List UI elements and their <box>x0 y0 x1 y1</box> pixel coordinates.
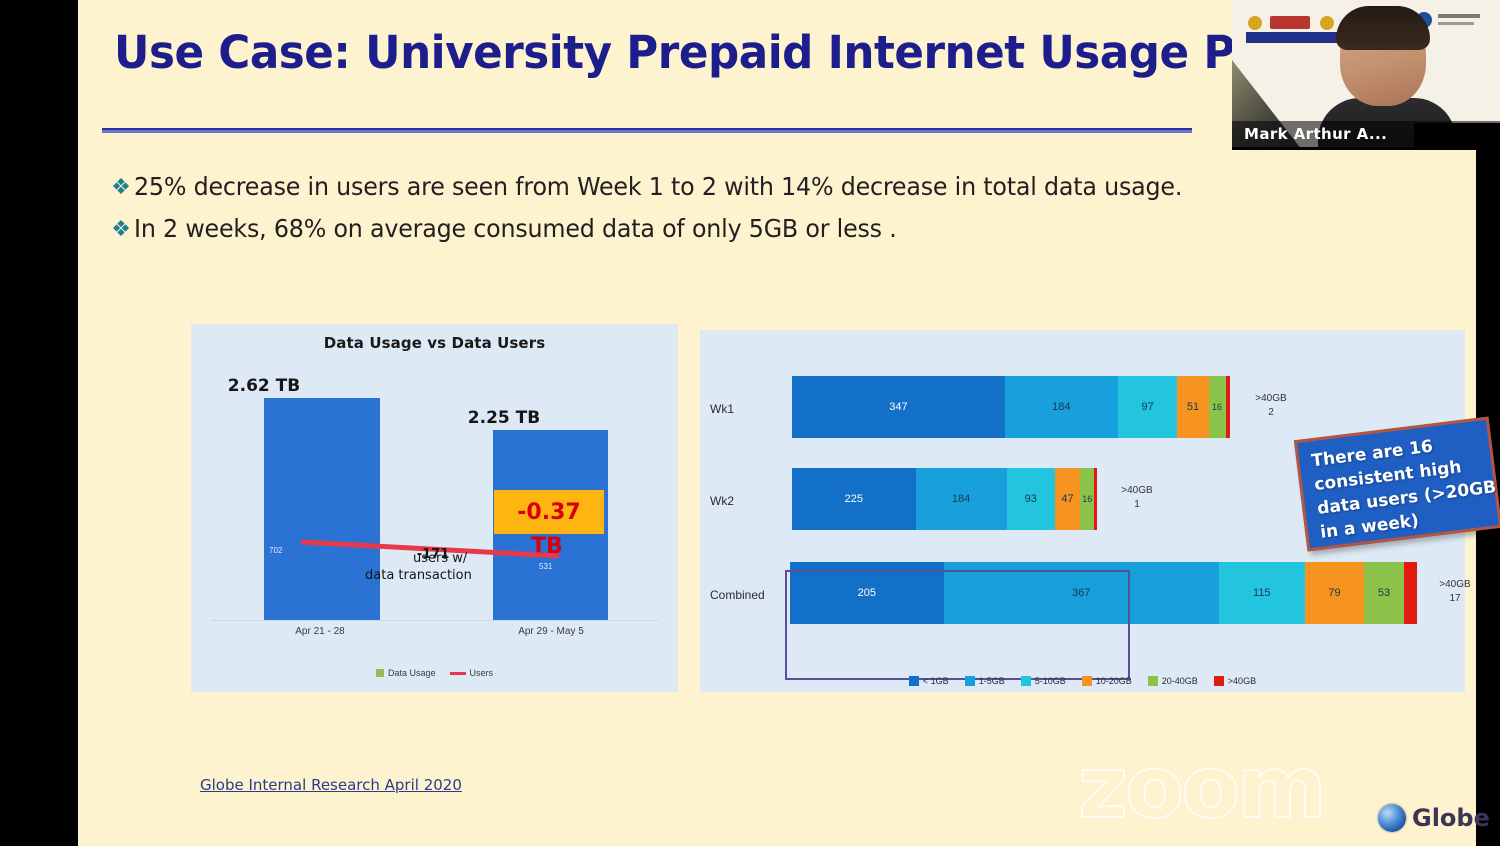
delta-usage-unit: TB <box>531 534 563 559</box>
segment-wk2-5to10gb: 93 <box>1007 468 1055 530</box>
bullet-item: ❖ In 2 weeks, 68% on average consumed da… <box>108 212 1328 246</box>
chart-data-usage-vs-data-users: Data Usage vs Data Users 2.62 TB 702 Apr… <box>191 324 678 692</box>
segment-combined-5to10gb: 115 <box>1219 562 1305 624</box>
bar-label-week2: 2.25 TB <box>444 408 564 428</box>
side-label-combined-name: >40GB <box>1439 579 1470 590</box>
slide-title: Use Case: University Prepaid Internet Us… <box>114 26 1278 79</box>
users-change-note-line1: users w/ <box>413 551 467 566</box>
bullet-list: ❖ 25% decrease in users are seen from We… <box>108 170 1328 254</box>
category-label-wk1: Wk1 <box>710 402 780 416</box>
segment-combined-10to20gb: 79 <box>1305 562 1364 624</box>
segment-wk1-gt40gb <box>1226 376 1230 438</box>
bullet-text: 25% decrease in users are seen from Week… <box>134 170 1182 204</box>
legend-item-lt1gb: < 1GB <box>909 676 949 686</box>
side-label-combined-value: 17 <box>1449 593 1460 604</box>
x-tick-week1: Apr 21 - 28 <box>250 626 390 637</box>
legend-swatch-users <box>450 672 466 675</box>
legend-label-5to10gb: 5-10GB <box>1035 676 1066 686</box>
globe-wordmark: Globe <box>1412 804 1490 832</box>
segment-combined-20to40gb: 53 <box>1364 562 1404 624</box>
diamond-bullet-icon: ❖ <box>108 170 134 204</box>
segment-wk2-1to5gb: 184 <box>916 468 1007 530</box>
x-axis-line <box>211 620 658 621</box>
segment-wk1-1to5gb: 184 <box>1005 376 1118 438</box>
side-label-wk1: >40GB 2 <box>1238 392 1304 420</box>
participant-name-label: Mark Arthur A... <box>1232 125 1387 143</box>
side-label-wk2-name: >40GB <box>1121 485 1152 496</box>
legend-item-data-usage: Data Usage <box>376 668 436 678</box>
segment-combined-gt40gb <box>1404 562 1417 624</box>
source-note: Globe Internal Research April 2020 <box>200 776 462 794</box>
legend-label-users: Users <box>470 668 494 678</box>
users-change-note-line2: data transaction <box>365 567 472 584</box>
diamond-bullet-icon: ❖ <box>108 212 134 246</box>
bar-label-week1: 2.62 TB <box>204 376 324 396</box>
category-label-combined: Combined <box>710 588 780 602</box>
legend-item-20to40gb: 20-40GB <box>1148 676 1198 686</box>
seal-icon-left <box>1248 16 1262 30</box>
side-label-wk1-value: 2 <box>1268 407 1274 418</box>
users-value-week2: 531 <box>539 562 552 571</box>
stacked-bar-wk1: 347 184 97 51 16 <box>792 376 1230 438</box>
chart-title: Data Usage vs Data Users <box>191 334 678 352</box>
globe-logo: Globe <box>1378 804 1490 832</box>
legend-swatch-data-usage <box>376 669 384 677</box>
legend-label-gt40gb: >40GB <box>1228 676 1256 686</box>
legend-label-1to5gb: 1-5GB <box>979 676 1005 686</box>
legend-item-1to5gb: 1-5GB <box>965 676 1005 686</box>
zoom-watermark: zoom <box>1078 745 1324 831</box>
bullet-text: In 2 weeks, 68% on average consumed data… <box>134 212 897 246</box>
delta-usage-box: -0.37 <box>494 490 604 534</box>
legend-swatch-1to5gb <box>965 676 975 686</box>
chart-legend-buckets: < 1GB 1-5GB 5-10GB 10-20GB 20-40GB <box>700 676 1465 686</box>
legend-swatch-10to20gb <box>1082 676 1092 686</box>
users-value-week1: 702 <box>269 546 282 555</box>
bar-week1 <box>264 398 380 620</box>
callout-box: There are 16 consistent high data users … <box>1294 416 1500 551</box>
legend-item-users: Users <box>450 668 494 678</box>
legend-label-20to40gb: 20-40GB <box>1162 676 1198 686</box>
zoom-screenshare-screen: Use Case: University Prepaid Internet Us… <box>0 0 1500 846</box>
video-bottom-right-fill <box>1414 123 1500 147</box>
legend-swatch-20to40gb <box>1148 676 1158 686</box>
segment-wk1-20to40gb: 16 <box>1209 376 1226 438</box>
legend-swatch-5to10gb <box>1021 676 1031 686</box>
legend-swatch-lt1gb <box>909 676 919 686</box>
participant-video-tile[interactable]: Mark Arthur A... <box>1232 0 1500 150</box>
stacked-bar-wk2: 225 184 93 47 16 <box>792 468 1097 530</box>
partner-logo-center <box>1270 16 1310 29</box>
legend-label-lt1gb: < 1GB <box>923 676 949 686</box>
title-underline-rule <box>102 128 1192 133</box>
segment-wk2-gt40gb <box>1094 468 1097 530</box>
segment-wk1-10to20gb: 51 <box>1177 376 1208 438</box>
legend-item-5to10gb: 5-10GB <box>1021 676 1066 686</box>
side-label-wk2: >40GB 1 <box>1104 484 1170 512</box>
segment-wk1-5to10gb: 97 <box>1118 376 1178 438</box>
side-label-combined: >40GB 17 <box>1422 578 1488 606</box>
legend-item-10to20gb: 10-20GB <box>1082 676 1132 686</box>
bullet-item: ❖ 25% decrease in users are seen from We… <box>108 170 1328 204</box>
category-label-wk2: Wk2 <box>710 494 780 508</box>
legend-swatch-gt40gb <box>1214 676 1224 686</box>
segment-wk2-lt1gb: 225 <box>792 468 916 530</box>
legend-label-data-usage: Data Usage <box>388 668 436 678</box>
legend-label-10to20gb: 10-20GB <box>1096 676 1132 686</box>
callout-text: There are 16 consistent high data users … <box>1310 428 1500 545</box>
segment-wk2-10to20gb: 47 <box>1055 468 1080 530</box>
globe-sphere-icon <box>1378 804 1406 832</box>
person-hair <box>1336 6 1430 50</box>
side-label-wk1-name: >40GB <box>1255 393 1286 404</box>
x-tick-week2: Apr 29 - May 5 <box>481 626 621 637</box>
side-label-wk2-value: 1 <box>1134 499 1140 510</box>
legend-item-gt40gb: >40GB <box>1214 676 1256 686</box>
selection-rectangle[interactable] <box>785 570 1130 680</box>
segment-wk1-lt1gb: 347 <box>792 376 1005 438</box>
virtual-background-title-bar <box>1246 32 1340 43</box>
users-change-note: users w/ data transaction <box>363 550 503 584</box>
segment-wk2-20to40gb: 16 <box>1080 468 1094 530</box>
chart-legend: Data Usage Users <box>191 668 678 678</box>
